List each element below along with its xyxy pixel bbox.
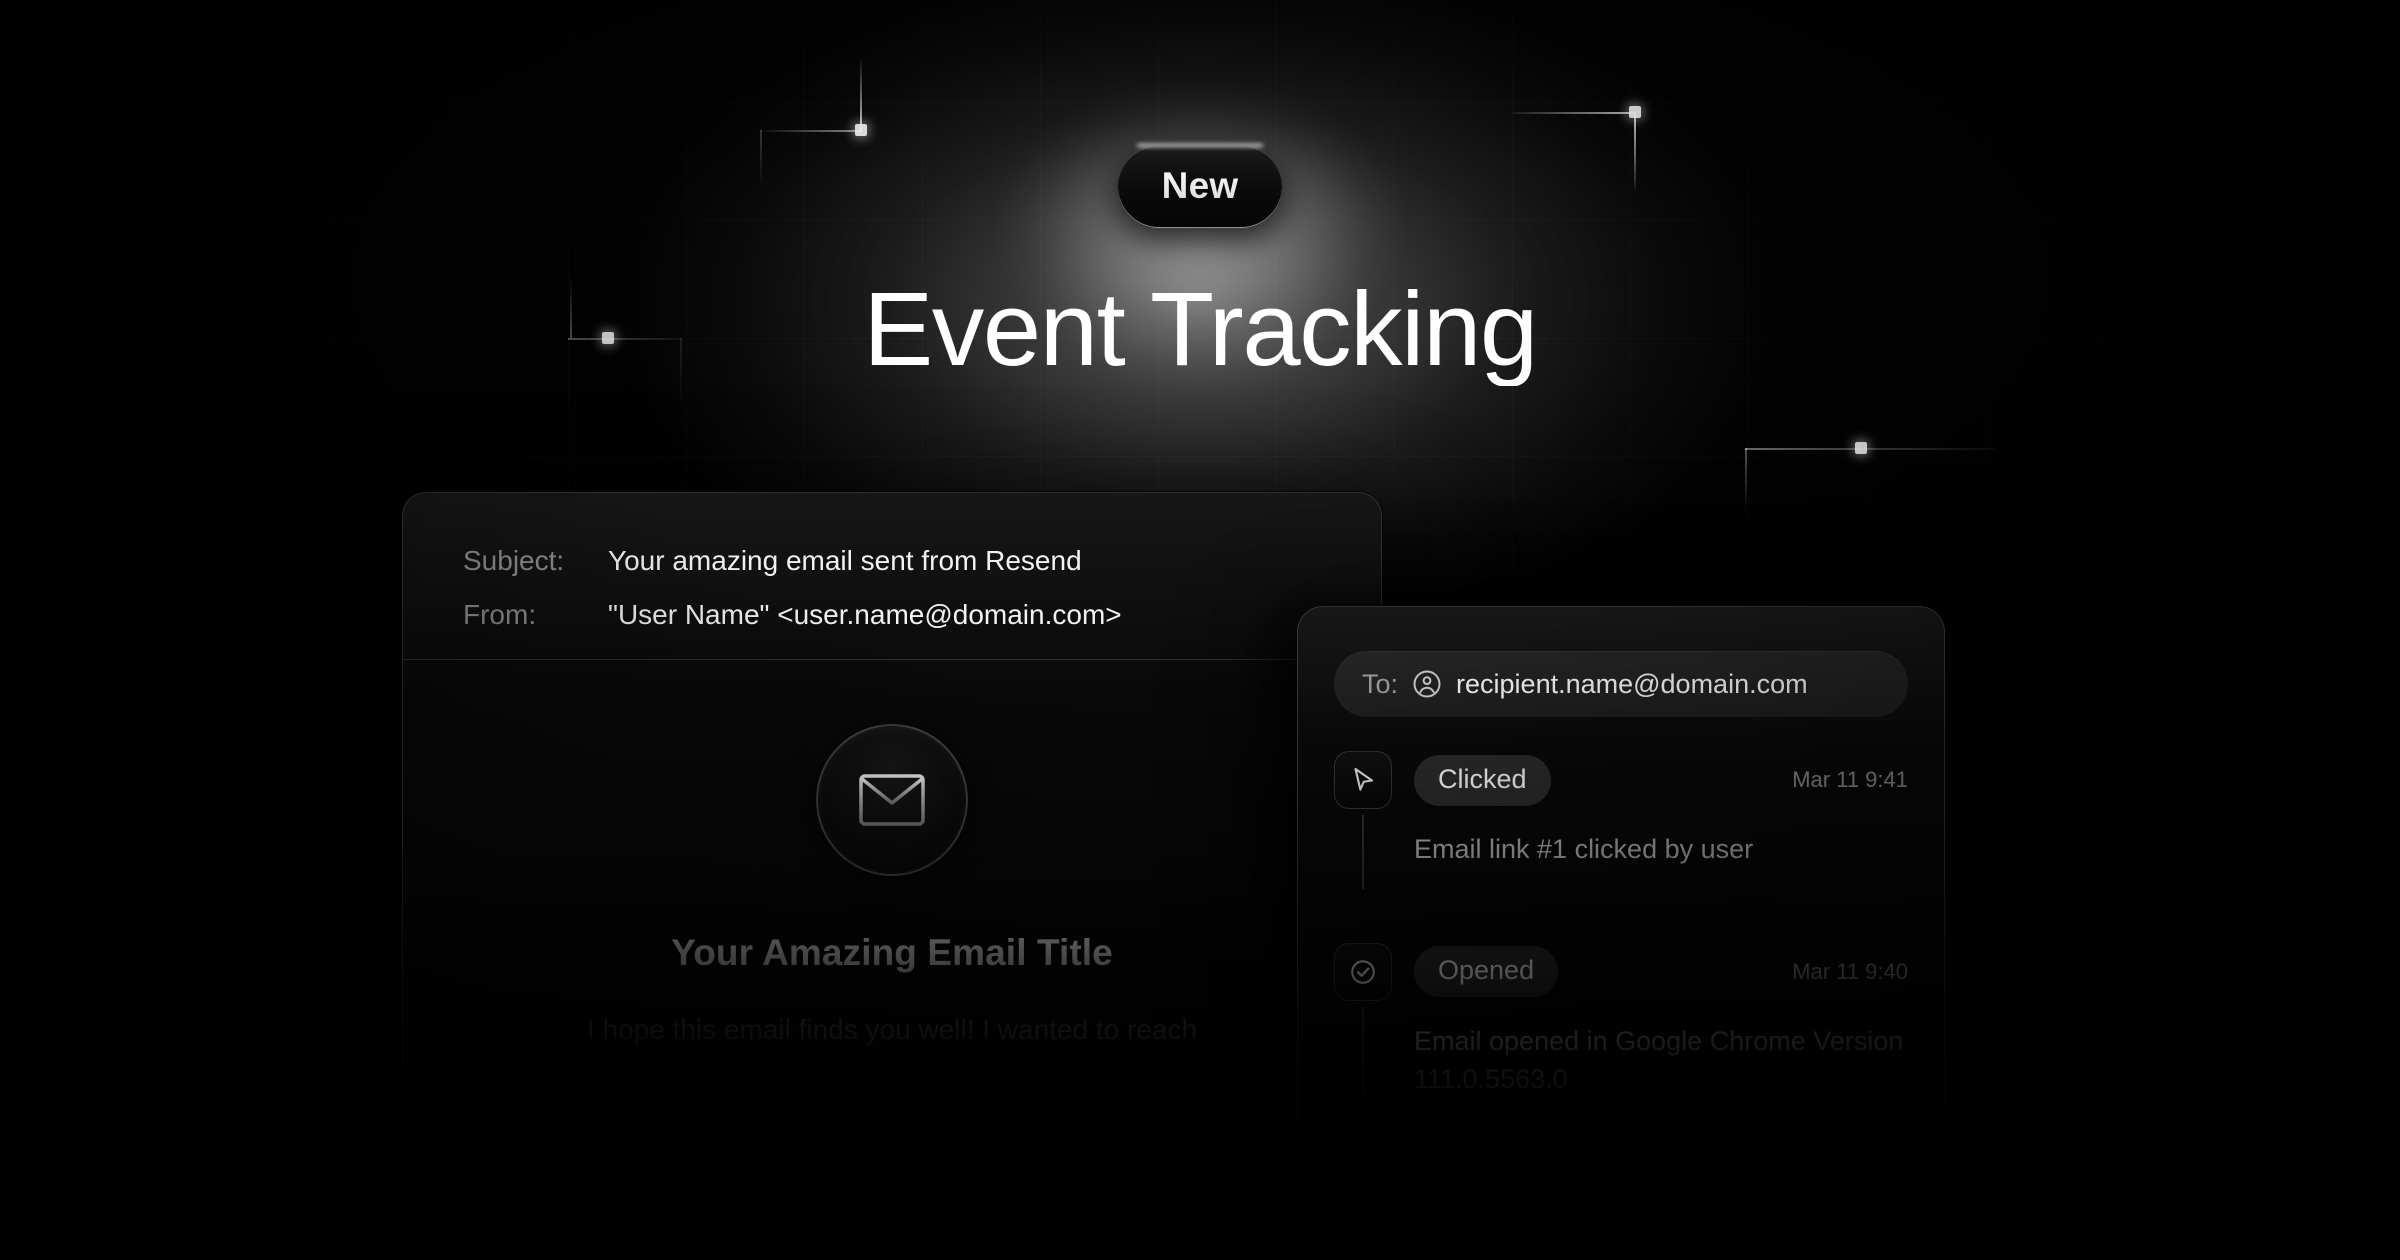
hero-header: New Event Tracking <box>0 0 2400 386</box>
person-circle-icon <box>1412 669 1442 699</box>
event-connector-line <box>1362 815 1364 889</box>
recipient-email: recipient.name@domain.com <box>1456 669 1808 700</box>
email-subject-label: Subject: <box>463 545 608 577</box>
event-tracking-panel: To: recipient.name@domain.com <box>1297 606 1945 1260</box>
event-header: Opened Mar 11 9:40 <box>1334 943 1944 1001</box>
event-header: Clicked Mar 11 9:41 <box>1334 751 1944 809</box>
event-status-badge: Opened <box>1414 946 1558 997</box>
recipient-label: To: <box>1362 669 1398 700</box>
email-subject-value: Your amazing email sent from Resend <box>608 545 1082 577</box>
event-description: Email link #1 clicked by user <box>1414 831 1944 869</box>
recipient-field[interactable]: To: recipient.name@domain.com <box>1334 651 1908 717</box>
email-from-label: From: <box>463 599 608 631</box>
check-circle-icon <box>1334 943 1392 1001</box>
email-body: Your Amazing Email Title I hope this ema… <box>403 660 1381 1051</box>
event-row-opened[interactable]: Opened Mar 11 9:40 Email opened in Googl… <box>1298 943 1944 1099</box>
event-spacer <box>1298 869 1944 943</box>
event-list: Clicked Mar 11 9:41 Email link #1 clicke… <box>1298 751 1944 1098</box>
event-timestamp: Mar 11 9:40 <box>1792 959 1908 985</box>
hero-stage: New Event Tracking Subject: Your amazing… <box>0 0 2400 1260</box>
email-from-row: From: "User Name" <user.name@domain.com> <box>403 599 1381 631</box>
new-badge[interactable]: New <box>1117 145 1284 229</box>
new-badge-label: New <box>1162 165 1239 206</box>
email-subject-row: Subject: Your amazing email sent from Re… <box>403 545 1381 577</box>
cursor-arrow-icon <box>1334 751 1392 809</box>
email-header: Subject: Your amazing email sent from Re… <box>403 493 1381 660</box>
email-body-text: I hope this email finds you well! I want… <box>403 1008 1381 1051</box>
event-timestamp: Mar 11 9:41 <box>1792 767 1908 793</box>
email-from-value: "User Name" <user.name@domain.com> <box>608 599 1122 631</box>
event-status-badge: Clicked <box>1414 755 1551 806</box>
email-preview-card: Subject: Your amazing email sent from Re… <box>402 492 1382 1252</box>
event-connector-line <box>1362 1007 1364 1097</box>
event-description: Email opened in Google Chrome Version 11… <box>1414 1023 1944 1099</box>
event-row-clicked[interactable]: Clicked Mar 11 9:41 Email link #1 clicke… <box>1298 751 1944 869</box>
envelope-icon <box>816 724 968 876</box>
page-title: Event Tracking <box>0 273 2400 386</box>
email-body-title: Your Amazing Email Title <box>403 932 1381 974</box>
